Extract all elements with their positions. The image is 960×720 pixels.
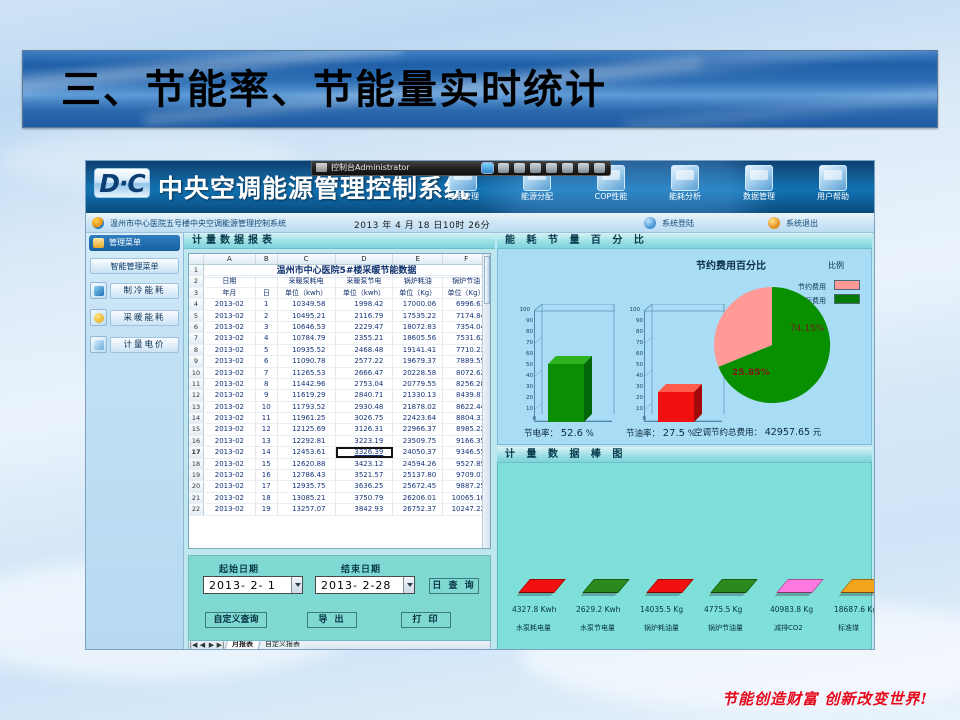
day-query-button[interactable]: 日 查 询 [429, 578, 479, 594]
tick-label: 80 [631, 329, 643, 335]
tick-label: 90 [521, 318, 533, 324]
cell-a: 日期 [204, 276, 256, 286]
col-header-e[interactable]: E [393, 254, 443, 264]
table-row[interactable]: 52013-02210495.212116.7917535.227174.84 [189, 311, 490, 322]
row-index[interactable]: 17 [189, 447, 204, 457]
cell-c[interactable]: 11619.29 [278, 390, 336, 400]
oil-rate-readout: 节油率： 27.5 % [626, 427, 696, 439]
cell-c[interactable]: 12292.81 [278, 436, 336, 446]
cell-b[interactable]: 16 [256, 470, 278, 480]
charts-section: 能 耗 节 量 百 分 比 [495, 233, 874, 650]
monitor-icon [316, 163, 327, 172]
sidebar-item-metering-price[interactable]: 计量电价 [90, 336, 179, 355]
tick-label: 30 [521, 384, 533, 390]
cell-b[interactable]: 1 [256, 299, 278, 309]
cell-b[interactable]: 10 [256, 402, 278, 412]
tick-label: 90 [631, 318, 643, 324]
table-row[interactable]: 122013-02911619.292840.7121330.138439.81 [189, 390, 490, 401]
cell-c[interactable]: 12620.88 [278, 459, 336, 469]
metering-bar [582, 579, 630, 593]
spreadsheet[interactable]: A B C D E F 1 温州市中心医院5#楼采暖节能数据 2 日期 采暖泵耗… [188, 253, 491, 549]
folder-icon[interactable] [514, 163, 525, 173]
table-row[interactable]: 192013-021612786.433521.5725137.809709.0… [189, 470, 490, 481]
sidebar-submenu-title[interactable]: 智能管理菜单 [90, 258, 179, 274]
move-icon[interactable] [546, 163, 557, 173]
cell-d[interactable]: 3521.57 [336, 470, 394, 480]
cell-c[interactable]: 12935.75 [278, 481, 336, 491]
footer-slogan: 节能创造财富 创新改变世界! [700, 688, 950, 709]
sidebar-item-label[interactable]: 制冷能耗 [110, 283, 179, 299]
query-panel: 起始日期 结束日期 2013- 2- 1 2013- 2-28 日 查 询 自定… [188, 555, 491, 641]
user-icon [819, 165, 847, 191]
cell-a[interactable]: 2013-02 [204, 368, 256, 378]
cell-d[interactable]: 3423.12 [336, 459, 394, 469]
chart-icon [90, 282, 107, 299]
console-toolbar[interactable]: 控制台Administrator [311, 160, 611, 176]
last-sheet-icon[interactable]: ▶| [216, 641, 225, 649]
cell-e[interactable]: 18605.56 [393, 333, 443, 343]
cell-c[interactable]: 13257.07 [278, 504, 336, 514]
cell-e[interactable]: 23509.75 [393, 436, 443, 446]
metering-bar-value: 2629.2 Kwh [576, 605, 620, 614]
cell-e[interactable]: 26206.01 [393, 493, 443, 503]
cell-b [256, 276, 278, 286]
cell-a[interactable]: 2013-02 [204, 459, 256, 469]
cell-d[interactable]: 2753.04 [336, 379, 394, 389]
sidebar-item-label[interactable]: 计量电价 [110, 337, 179, 353]
info-strip: 温州市中心医院五号楼中央空调能源管理控制系统 2013 年 4 月 18 日10… [86, 213, 874, 233]
report-section: 计量数据报表 A B C D E F 1 温州市中心医院5#楼采暖节能数据 2 [184, 233, 495, 650]
cell-c[interactable]: 11265.53 [278, 368, 336, 378]
row-index[interactable]: 15 [189, 424, 204, 434]
cell-c[interactable]: 11442.96 [278, 379, 336, 389]
cell-d[interactable]: 2468.48 [336, 345, 394, 355]
tick-label: 40 [521, 373, 533, 379]
cell-b[interactable]: 15 [256, 459, 278, 469]
cell-a[interactable]: 2013-02 [204, 424, 256, 434]
cell-c[interactable]: 13085.21 [278, 493, 336, 503]
sun-icon [90, 309, 107, 326]
page-title: 三、节能率、节能量实时统计 [23, 51, 937, 128]
cell-e[interactable]: 18072.83 [393, 322, 443, 332]
table-row[interactable]: 2 日期 采暖泵耗电 采暖泵节电 锅炉耗油 锅炉节油 [189, 276, 490, 287]
table-row[interactable]: 72013-02410784.792355.2118605.567531.62 [189, 333, 490, 344]
site-name: 温州市中心医院五号楼中央空调能源管理控制系统 [110, 218, 286, 229]
cell-a[interactable]: 2013-02 [204, 379, 256, 389]
cell-c[interactable]: 12453.61 [278, 447, 336, 457]
cell-e[interactable]: 21330.13 [393, 390, 443, 400]
tick-label: 50 [521, 362, 533, 368]
table-row[interactable]: 3 年月 日 单位（kwh） 单位（kwh） 单位（Kg） 单位（Kg） [189, 288, 490, 299]
folder-globe-icon [745, 165, 773, 191]
row-index[interactable]: 19 [189, 470, 204, 480]
row-index[interactable]: 1 [189, 265, 204, 275]
metering-bar-label: 锅炉节油量 [708, 623, 743, 633]
sidebar-item-heating-energy[interactable]: 采暖能耗 [90, 309, 179, 328]
hand-icon[interactable] [562, 163, 573, 173]
row-index[interactable]: 14 [189, 413, 204, 423]
mouse-icon[interactable] [498, 163, 509, 173]
metering-bar-edge [645, 592, 682, 596]
metering-bar-edge [775, 592, 812, 596]
speaker-icon[interactable] [594, 163, 605, 173]
sidebar-header: 管理菜单 [89, 235, 180, 251]
system-login-button[interactable]: 系统登陆 [662, 218, 694, 229]
cell-d: 单位（kwh） [336, 288, 394, 298]
cell-d[interactable]: 3126.31 [336, 424, 394, 434]
cell-d[interactable]: 3842.93 [336, 504, 394, 514]
cell-a[interactable]: 2013-02 [204, 333, 256, 343]
cell-e: 单位（Kg） [393, 288, 443, 298]
cell-c[interactable]: 11793.52 [278, 402, 336, 412]
tick-label: 80 [521, 329, 533, 335]
metering-bar-value: 18687.6 Kg [834, 605, 875, 614]
row-index[interactable]: 22 [189, 504, 204, 514]
metering-bar-edge [709, 592, 746, 596]
sidebar-item-label[interactable]: 采暖能耗 [110, 310, 179, 326]
nav-label: COP性能 [574, 192, 648, 202]
elec-rate-value: 52.6 [561, 428, 583, 439]
cell-b[interactable]: 18 [256, 493, 278, 503]
chevron-down-icon[interactable] [403, 577, 414, 593]
cell-e: 锅炉耗油 [393, 276, 443, 286]
table-row[interactable]: 152013-021212125.693126.3122966.378985.2… [189, 424, 490, 435]
cell-c[interactable]: 12786.43 [278, 470, 336, 480]
row-index[interactable]: 16 [189, 436, 204, 446]
login-icon[interactable] [644, 217, 656, 229]
end-date-value: 2013- 2-28 [321, 579, 391, 592]
tick-label: 20 [631, 395, 643, 401]
cell-e[interactable]: 21878.02 [393, 402, 443, 412]
metering-bar-value: 14035.5 Kg [640, 605, 683, 614]
tick-label: 70 [631, 340, 643, 346]
tick-label: 10 [631, 406, 643, 412]
table-row[interactable]: 172013-021412453.613326.3924050.379346.5… [189, 447, 490, 458]
tick-label: 50 [631, 362, 643, 368]
table-row[interactable]: 1 温州市中心医院5#楼采暖节能数据 [189, 265, 490, 276]
row-index[interactable]: 13 [189, 402, 204, 412]
metering-bar [646, 579, 694, 593]
cell-b[interactable]: 17 [256, 481, 278, 491]
cell-e[interactable]: 22966.37 [393, 424, 443, 434]
table-row[interactable]: 202013-021712935.753636.2525672.459887.2… [189, 481, 490, 492]
table-row[interactable]: 162013-021312292.813223.1923509.759166.3… [189, 436, 490, 447]
total-saving-unit: 元 [813, 428, 822, 438]
row-index[interactable]: 18 [189, 459, 204, 469]
cell-b[interactable]: 4 [256, 333, 278, 343]
nav-item-user-help[interactable]: 用户帮助 [796, 163, 870, 202]
tick-label: 70 [521, 340, 533, 346]
chevron-down-icon[interactable] [291, 577, 302, 593]
percent-panel-body: 100 90 80 70 60 50 40 30 20 10 0 [497, 249, 872, 445]
cell-a[interactable]: 2013-02 [204, 413, 256, 423]
cell-e[interactable]: 24594.26 [393, 459, 443, 469]
start-date-value: 2013- 2- 1 [209, 579, 276, 592]
print-button[interactable]: 打 印 [401, 612, 451, 628]
metering-bar-value: 40983.8 Kg [770, 605, 813, 614]
window-icon[interactable] [578, 163, 589, 173]
pie-chart: 74.15% 25.85% [710, 283, 834, 407]
col-header-d[interactable]: D [336, 254, 394, 264]
tick-label: 20 [521, 395, 533, 401]
pie-chart-title: 节约费用百分比 [696, 257, 766, 272]
nav-label: 用户帮助 [796, 192, 870, 202]
site-icon [92, 217, 104, 229]
cell-a[interactable]: 2013-02 [204, 322, 256, 332]
monitor-icon[interactable] [482, 163, 493, 173]
metering-bar-label: 标准煤 [838, 623, 859, 633]
cell-e[interactable]: 20779.55 [393, 379, 443, 389]
pie-legend-title: 比例 [828, 260, 844, 271]
row-index[interactable]: 6 [189, 322, 204, 332]
metering-bar-edge [581, 592, 618, 596]
col-header-b[interactable]: B [256, 254, 278, 264]
console-title: 控制台Administrator [331, 162, 410, 173]
spreadsheet-rows: 42013-02110349.581998.4217000.066996.635… [189, 299, 490, 515]
cell-c[interactable]: 10646.53 [278, 322, 336, 332]
cell-a[interactable]: 2013-02 [204, 481, 256, 491]
cell-c: 采暖泵耗电 [278, 276, 336, 286]
slide-title-banner: 三、节能率、节能量实时统计 [22, 50, 938, 128]
tick-label: 100 [628, 307, 640, 313]
cell-b[interactable]: 3 [256, 322, 278, 332]
table-row[interactable]: 82013-02510935.522468.4819141.417710.23 [189, 345, 490, 356]
tick-label: 60 [631, 351, 643, 357]
row-index[interactable]: 12 [189, 390, 204, 400]
table-row[interactable]: 42013-02110349.581998.4217000.066996.63 [189, 299, 490, 310]
nav-label: 数据管理 [722, 192, 796, 202]
spreadsheet-scrollbar[interactable] [482, 254, 490, 548]
custom-query-button[interactable]: 自定义查询 [205, 612, 267, 628]
cell-b[interactable]: 7 [256, 368, 278, 378]
nav-label: 能耗分析 [648, 192, 722, 202]
percent-panel: 能 耗 节 量 百 分 比 [497, 233, 872, 445]
sidebar-item-cooling-energy[interactable]: 制冷能耗 [90, 282, 179, 301]
cell-a[interactable]: 2013-02 [204, 345, 256, 355]
cell-a[interactable]: 2013-02 [204, 436, 256, 446]
metering-bar-label: 水泵节电量 [580, 623, 615, 633]
sidebar: 管理菜单 智能管理菜单 制冷能耗 采暖能耗 计量电价 [86, 233, 184, 650]
cell-e[interactable]: 24050.37 [393, 447, 443, 457]
metering-bar [518, 579, 566, 593]
cell-d[interactable]: 2229.47 [336, 322, 394, 332]
start-date-input[interactable]: 2013- 2- 1 [203, 576, 303, 594]
green-bar-3d [548, 356, 608, 434]
table-row[interactable]: 212013-021813085.213750.7926206.0110065.… [189, 493, 490, 504]
nav-label: 智能管理 [426, 192, 500, 202]
table-row[interactable]: 182013-021512620.883423.1224594.269527.8… [189, 459, 490, 470]
total-saving-value: 42957.65 [765, 427, 810, 438]
cell-d[interactable]: 2355.21 [336, 333, 394, 343]
cell-d[interactable]: 2840.71 [336, 390, 394, 400]
first-sheet-icon[interactable]: |◀ [189, 641, 198, 649]
oil-rate-label: 节油率： [626, 429, 660, 439]
cell-a[interactable]: 2013-02 [204, 299, 256, 309]
cell-d[interactable]: 2577.22 [336, 356, 394, 366]
cell-d[interactable]: 3750.79 [336, 493, 394, 503]
next-sheet-icon[interactable]: ▶ [207, 641, 216, 649]
metering-bar [710, 579, 758, 593]
metering-bar-value: 4775.5 Kg [704, 605, 742, 614]
row-index[interactable]: 10 [189, 368, 204, 378]
table-row[interactable]: 142013-021111961.253026.7522423.648804.3… [189, 413, 490, 424]
cell-d[interactable]: 1998.42 [336, 299, 394, 309]
cell-e[interactable]: 22423.64 [393, 413, 443, 423]
row-index[interactable]: 7 [189, 333, 204, 343]
nav-label: 能源分配 [500, 192, 574, 202]
total-saving-label: 空调节约总费用： [694, 428, 762, 438]
row-index[interactable]: 3 [189, 288, 204, 298]
elec-rate-unit: % [586, 429, 594, 439]
cell-a[interactable]: 2013-02 [204, 447, 256, 457]
metering-bar-value: 4327.8 Kwh [512, 605, 556, 614]
cell-b[interactable]: 14 [256, 447, 278, 457]
row-index[interactable]: 20 [189, 481, 204, 491]
cell-d: 采暖泵节电 [336, 276, 394, 286]
cell-b[interactable]: 8 [256, 379, 278, 389]
row-index[interactable]: 11 [189, 379, 204, 389]
cell-c[interactable]: 12125.69 [278, 424, 336, 434]
prev-sheet-icon[interactable]: ◀ [198, 641, 207, 649]
metering-bar [840, 579, 875, 593]
cell-e[interactable]: 17535.22 [393, 311, 443, 321]
cell-a[interactable]: 2013-02 [204, 470, 256, 480]
end-date-input[interactable]: 2013- 2-28 [315, 576, 415, 594]
legend-swatch-actual-cost [834, 294, 860, 304]
cell-b[interactable]: 2 [256, 311, 278, 321]
cell-e[interactable]: 25137.80 [393, 470, 443, 480]
col-header-corner [189, 254, 204, 264]
cell-a[interactable]: 2013-02 [204, 390, 256, 400]
elec-rate-readout: 节电率： 52.6 % [524, 427, 594, 439]
app-body: 管理菜单 智能管理菜单 制冷能耗 采暖能耗 计量电价 计量数据报表 [86, 233, 874, 650]
table-row[interactable]: 132013-021011793.522930.4821878.028622.4… [189, 402, 490, 413]
cell-c: 单位（kwh） [278, 288, 336, 298]
cell-a: 年月 [204, 288, 256, 298]
bar-panel-title: 计 量 数 据 棒 图 [497, 447, 872, 463]
cell-a[interactable]: 2013-02 [204, 504, 256, 514]
cell-b[interactable]: 11 [256, 413, 278, 423]
tick-label: 30 [631, 384, 643, 390]
oil-rate-value: 27.5 [663, 428, 685, 439]
cell-b: 日 [256, 288, 278, 298]
row-index[interactable]: 2 [189, 276, 204, 286]
metering-bar-edge [839, 592, 875, 596]
cell-d[interactable]: 2666.47 [336, 368, 394, 378]
export-button[interactable]: 导 出 [307, 612, 357, 628]
cell-a[interactable]: 2013-02 [204, 311, 256, 321]
cell-b[interactable]: 6 [256, 356, 278, 366]
cell-d[interactable]: 3326.39 [336, 447, 394, 457]
cell-c[interactable]: 10349.58 [278, 299, 336, 309]
start-date-label: 起始日期 [219, 562, 259, 575]
tick-label: 0 [524, 416, 536, 422]
cell-a[interactable]: 2013-02 [204, 356, 256, 366]
cell-b[interactable]: 12 [256, 424, 278, 434]
tick-label: 40 [631, 373, 643, 379]
scrollbar-thumb[interactable] [484, 256, 490, 304]
cell-c[interactable]: 11961.25 [278, 413, 336, 423]
cell-d[interactable]: 2116.79 [336, 311, 394, 321]
metering-bar-label: 锅炉耗油量 [644, 623, 679, 633]
metering-bar-label: 减排CO2 [774, 623, 803, 633]
pointer-icon[interactable] [530, 163, 541, 173]
cell-c[interactable]: 10935.52 [278, 345, 336, 355]
metering-bar-edge [517, 592, 554, 596]
cell-b[interactable]: 5 [256, 345, 278, 355]
row-index[interactable]: 21 [189, 493, 204, 503]
system-exit-button[interactable]: 系统退出 [786, 218, 818, 229]
legend-swatch-saving-cost [834, 280, 860, 290]
bar-panel-body: 4327.8 Kwh水泵耗电量2629.2 Kwh水泵节电量14035.5 Kg… [497, 463, 872, 650]
cell-a[interactable]: 2013-02 [204, 493, 256, 503]
cell-e[interactable]: 20228.58 [393, 368, 443, 378]
logo-dc: D·C [94, 168, 150, 198]
tick-label: 100 [518, 307, 530, 313]
elec-rate-label: 节电率： [524, 429, 558, 439]
cell-b[interactable]: 9 [256, 390, 278, 400]
exit-icon[interactable] [768, 217, 780, 229]
cell-c[interactable]: 10495.21 [278, 311, 336, 321]
metering-bar-panel: 计 量 数 据 棒 图 4327.8 Kwh水泵耗电量2629.2 Kwh水泵节… [497, 447, 872, 649]
application-window: 控制台Administrator D·C 中央空调能源管理控制系统 智能管理 能… [85, 160, 875, 650]
cell-d[interactable]: 3636.25 [336, 481, 394, 491]
menu-icon [93, 238, 104, 248]
table-row[interactable]: 62013-02310646.532229.4718072.837354.04 [189, 322, 490, 333]
cell-c[interactable]: 11090.78 [278, 356, 336, 366]
sidebar-header-label: 管理菜单 [109, 238, 141, 247]
table-row[interactable]: 112013-02811442.962753.0420779.558256.28 [189, 379, 490, 390]
nav-item-data-management[interactable]: 数据管理 [722, 163, 796, 202]
svg-text:25.85%: 25.85% [732, 368, 770, 378]
percent-panel-title: 能 耗 节 量 百 分 比 [497, 233, 872, 249]
metering-bar-label: 水泵耗电量 [516, 623, 551, 633]
report-panel-title: 计量数据报表 [184, 233, 495, 249]
row-index[interactable]: 9 [189, 356, 204, 366]
total-saving-readout: 空调节约总费用： 42957.65 元 [694, 426, 821, 438]
svg-text:74.15%: 74.15% [790, 324, 825, 334]
metering-bar [776, 579, 824, 593]
end-date-label: 结束日期 [341, 562, 381, 575]
col-header-a[interactable]: A [204, 254, 256, 264]
cell-e[interactable]: 19679.37 [393, 356, 443, 366]
cell-e[interactable]: 19141.41 [393, 345, 443, 355]
table-row[interactable]: 92013-02611090.782577.2219679.377889.55 [189, 356, 490, 367]
cell-e[interactable]: 17000.06 [393, 299, 443, 309]
meter-icon [90, 336, 107, 353]
nav-item-energy-analysis[interactable]: 能耗分析 [648, 163, 722, 202]
row-index[interactable]: 8 [189, 345, 204, 355]
table-row[interactable]: 102013-02711265.532666.4720228.588072.62 [189, 368, 490, 379]
spreadsheet-column-headers: A B C D E F [189, 254, 490, 265]
cell-d[interactable]: 3223.19 [336, 436, 394, 446]
cell-c[interactable]: 10784.79 [278, 333, 336, 343]
cell-b[interactable]: 19 [256, 504, 278, 514]
tick-label: 0 [634, 416, 646, 422]
tick-label: 60 [521, 351, 533, 357]
cell-b[interactable]: 13 [256, 436, 278, 446]
cell-d[interactable]: 2930.48 [336, 402, 394, 412]
cell-d[interactable]: 3026.75 [336, 413, 394, 423]
cell-e[interactable]: 25672.45 [393, 481, 443, 491]
table-row[interactable]: 222013-021913257.073842.9326752.3710247.… [189, 504, 490, 515]
cell-a[interactable]: 2013-02 [204, 402, 256, 412]
tick-label: 10 [521, 406, 533, 412]
row-index[interactable]: 5 [189, 311, 204, 321]
cell-e[interactable]: 26752.37 [393, 504, 443, 514]
row-index[interactable]: 4 [189, 299, 204, 309]
col-header-c[interactable]: C [278, 254, 336, 264]
